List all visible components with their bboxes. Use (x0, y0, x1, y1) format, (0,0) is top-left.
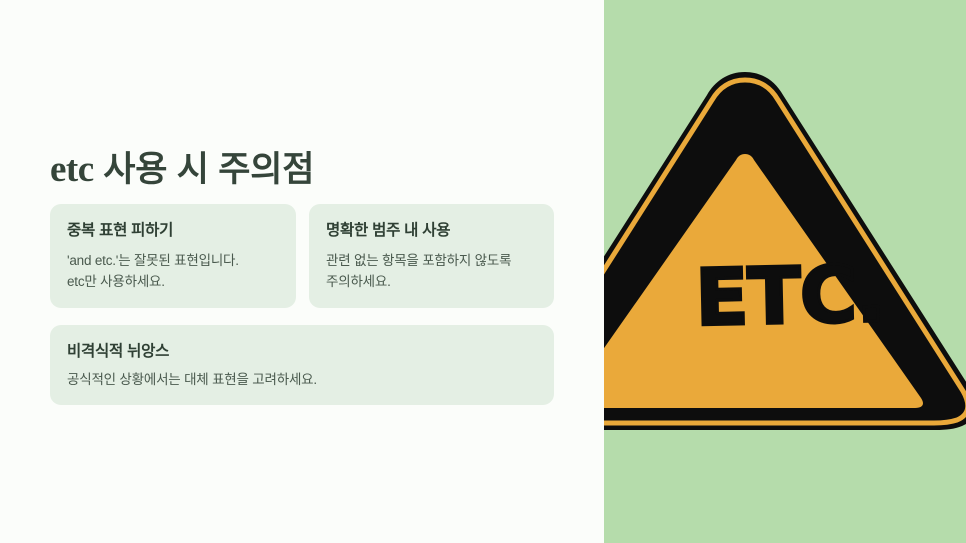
card-body-line-1: 공식적인 상황에서는 대체 표현을 고려하세요. (67, 372, 317, 387)
page-title-rest: 사용 시 주의점 (94, 150, 315, 189)
card-title: 명확한 범주 내 사용 (326, 220, 536, 241)
card-body: 관련 없는 항목을 포함하지 않도록 주의하세요. (326, 250, 536, 292)
card-body: 공식적인 상황에서는 대체 표현을 고려하세요. (67, 369, 536, 390)
left-content-panel: etc 사용 시 주의점 중복 표현 피하기 'and etc.'는 잘못된 표… (0, 0, 604, 543)
page-title-lead: etc (50, 149, 94, 190)
note-card-duplicate-expression: 중복 표현 피하기 'and etc.'는 잘못된 표현입니다. etc만 사용… (50, 204, 296, 308)
note-card-informal-nuance: 비격식적 뉘앙스 공식적인 상황에서는 대체 표현을 고려하세요. (50, 325, 554, 405)
right-image-panel: ETC. (604, 0, 966, 543)
slide-root: etc 사용 시 주의점 중복 표현 피하기 'and etc.'는 잘못된 표… (0, 0, 966, 543)
page-title: etc 사용 시 주의점 (50, 147, 314, 193)
card-title: 비격식적 뉘앙스 (67, 341, 536, 362)
card-body-line-1: 관련 없는 항목을 포함하지 않도록 (326, 253, 511, 268)
card-body: 'and etc.'는 잘못된 표현입니다. etc만 사용하세요. (67, 250, 278, 292)
sign-caption-label: ETC. (604, 254, 966, 340)
card-title: 중복 표현 피하기 (67, 220, 278, 241)
note-card-clear-category: 명확한 범주 내 사용 관련 없는 항목을 포함하지 않도록 주의하세요. (309, 204, 554, 308)
card-body-line-2: 주의하세요. (326, 274, 391, 289)
warning-triangle-icon (604, 58, 966, 438)
card-body-line-2: etc만 사용하세요. (67, 274, 165, 289)
card-body-line-1: 'and etc.'는 잘못된 표현입니다. (67, 253, 239, 268)
